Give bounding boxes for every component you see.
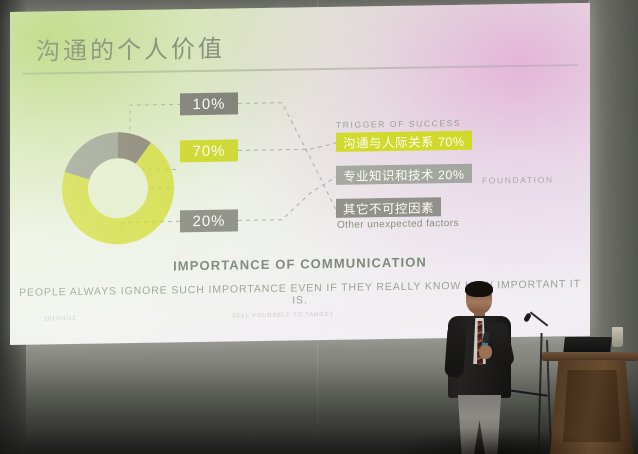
legend-item-communication: 沟通与人际关系 70% bbox=[336, 131, 472, 152]
percent-chip-70: 70% bbox=[180, 139, 238, 162]
lectern-top-surface bbox=[542, 352, 638, 361]
presenter-hair bbox=[465, 281, 493, 297]
water-glass bbox=[612, 327, 623, 347]
percent-chip-20: 20% bbox=[180, 209, 238, 232]
slide-footer-tagline: SELL YOURSELF TO TARGET bbox=[232, 312, 334, 320]
presenter-left-arm bbox=[444, 324, 467, 377]
donut-chart bbox=[62, 131, 174, 245]
slide-callout: IMPORTANCE OF COMMUNICATION bbox=[10, 252, 590, 276]
kicker-foundation: FOUNDATION bbox=[482, 174, 554, 185]
percent-chip-10: 10% bbox=[180, 92, 238, 115]
presenter-hand bbox=[479, 345, 492, 359]
presentation-photo-scene: 沟通的个人价值 10% bbox=[0, 0, 638, 454]
title-divider bbox=[22, 64, 578, 75]
slide-footer-date: 2013/4/12 bbox=[44, 316, 76, 323]
slide-title: 沟通的个人价值 bbox=[36, 29, 225, 67]
floor-shadow bbox=[400, 418, 638, 454]
legend-subcaption: Other unexpected factors bbox=[337, 218, 459, 231]
kicker-trigger-of-success: TRIGGER OF SUCCESS bbox=[336, 118, 461, 130]
legend-item-other-factors: 其它不可控因素 bbox=[336, 197, 441, 218]
legend-item-knowledge: 专业知识和技术 20% bbox=[336, 164, 472, 185]
